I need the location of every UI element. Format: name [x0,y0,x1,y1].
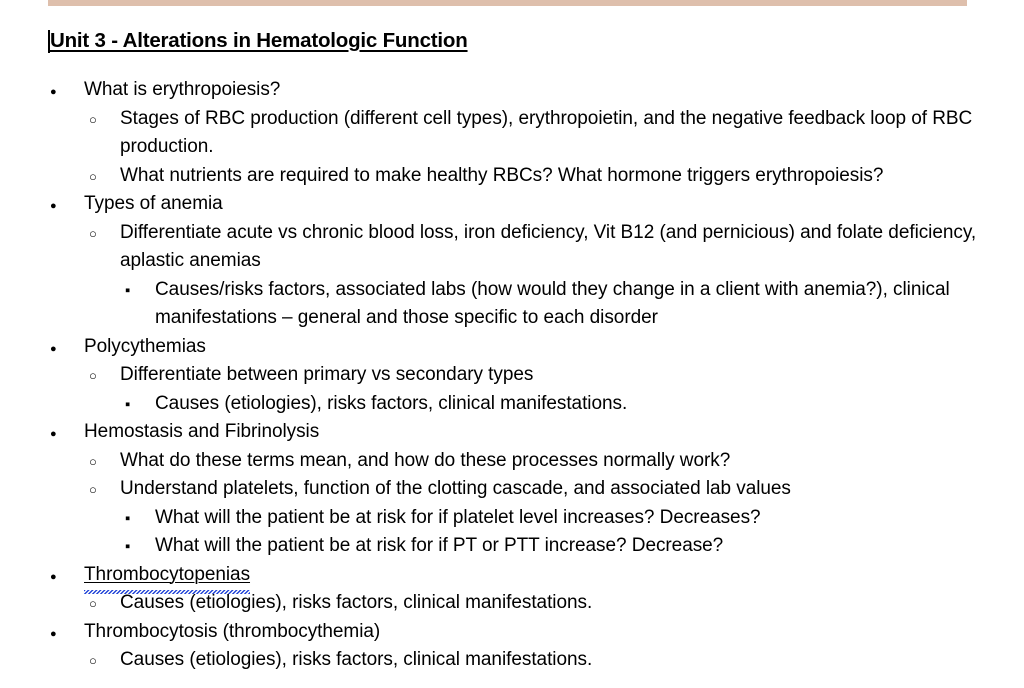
hollow-circle-bullet-icon [89,475,97,505]
outline-item: What will the patient be at risk for if … [0,532,1024,561]
filled-square-bullet-icon [125,390,130,420]
outline-item: What is erythropoiesis? [0,76,1024,105]
outline-item: Stages of RBC production (different cell… [0,105,1024,162]
outline-item-text: Causes (etiologies), risks factors, clin… [120,649,592,670]
outline-item: Types of anemia [0,190,1024,219]
outline-item-text: What do these terms mean, and how do the… [120,450,730,471]
outline-item-text: What nutrients are required to make heal… [120,165,883,186]
outline-item: Causes (etiologies), risks factors, clin… [0,646,1024,675]
outline-item-text: Differentiate between primary vs seconda… [120,364,533,385]
outline-item-text: Causes (etiologies), risks factors, clin… [155,393,627,414]
outline-item: Hemostasis and Fibrinolysis [0,418,1024,447]
filled-disc-bullet-icon [50,618,57,649]
hollow-circle-bullet-icon [89,219,97,249]
outline-item-text: Stages of RBC production (different cell… [120,108,972,158]
filled-disc-bullet-icon [50,190,57,221]
document-page: Unit 3 - Alterations in Hematologic Func… [0,0,1024,688]
filled-disc-bullet-icon [50,76,57,107]
outline-item-text: What will the patient be at risk for if … [155,507,761,528]
filled-square-bullet-icon [125,504,130,534]
filled-square-bullet-icon [125,276,130,306]
hollow-circle-bullet-icon [89,589,97,619]
outline-item-text: Thrombocytosis (thrombocythemia) [84,621,380,642]
outline-item-text: Causes (etiologies), risks factors, clin… [120,592,592,613]
hollow-circle-bullet-icon [89,447,97,477]
outline-item-text: What will the patient be at risk for if … [155,535,723,556]
outline-item: Causes/risks factors, associated labs (h… [0,276,1024,333]
filled-square-bullet-icon [125,532,130,562]
outline-item: What do these terms mean, and how do the… [0,447,1024,476]
outline-item-text: Polycythemias [84,336,206,357]
outline-item: What nutrients are required to make heal… [0,162,1024,191]
document-title-row: Unit 3 - Alterations in Hematologic Func… [48,28,468,54]
outline-item-text: Differentiate acute vs chronic blood los… [120,222,976,272]
outline-item-text: Thrombocytopenias [84,564,250,585]
outline-item: Differentiate acute vs chronic blood los… [0,219,1024,276]
page-title: Unit 3 - Alterations in Hematologic Func… [50,29,468,53]
outline-item: Thrombocytopenias [0,561,1024,590]
outline-item-text: Understand platelets, function of the cl… [120,478,791,499]
outline-list: What is erythropoiesis?Stages of RBC pro… [0,76,1024,675]
outline-item: Causes (etiologies), risks factors, clin… [0,589,1024,618]
header-rule [48,0,967,6]
outline-item: Polycythemias [0,333,1024,362]
outline-item-text: Types of anemia [84,193,223,214]
outline-item: Thrombocytosis (thrombocythemia) [0,618,1024,647]
filled-disc-bullet-icon [50,418,57,449]
outline-item: Understand platelets, function of the cl… [0,475,1024,504]
outline-item: What will the patient be at risk for if … [0,504,1024,533]
hollow-circle-bullet-icon [89,646,97,676]
outline-item-text: Hemostasis and Fibrinolysis [84,421,319,442]
outline-item-text: What is erythropoiesis? [84,79,280,100]
spellcheck-underline: Thrombocytopenias [84,561,250,590]
hollow-circle-bullet-icon [89,162,97,192]
outline-item: Causes (etiologies), risks factors, clin… [0,390,1024,419]
hollow-circle-bullet-icon [89,361,97,391]
filled-disc-bullet-icon [50,561,57,592]
outline-item-text: Causes/risks factors, associated labs (h… [155,279,950,329]
filled-disc-bullet-icon [50,333,57,364]
hollow-circle-bullet-icon [89,105,97,135]
outline-item: Differentiate between primary vs seconda… [0,361,1024,390]
